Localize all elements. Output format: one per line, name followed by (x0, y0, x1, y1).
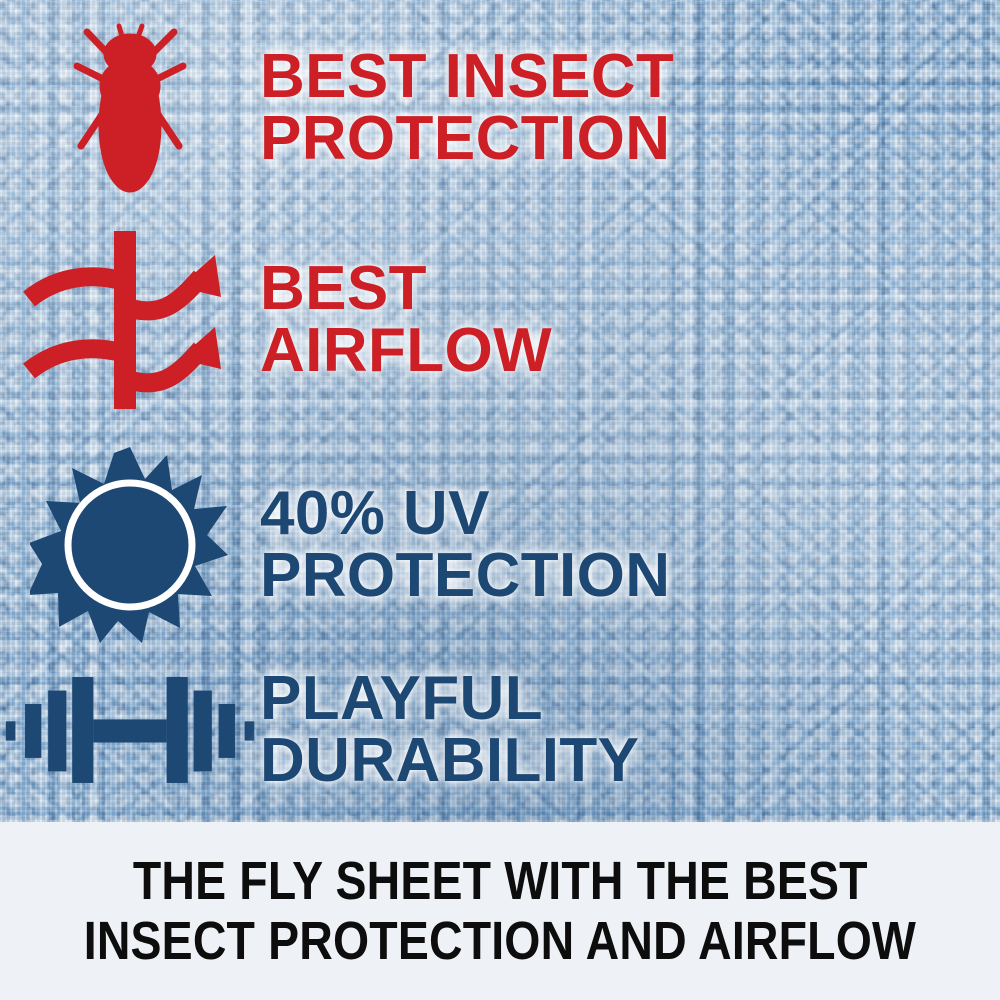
feature-label-line1: BEST (260, 258, 1000, 320)
dumbbell-icon (0, 665, 260, 795)
airflow-arrows-icon (15, 225, 245, 415)
feature-text-cell: BEST INSECT PROTECTION (260, 46, 1000, 170)
feature-icon-cell (0, 665, 260, 795)
feature-label-line2: AIRFLOW (260, 320, 1000, 382)
feature-text-cell: 40% UV PROTECTION (260, 483, 1000, 607)
feature-row-uv-protection: 40% UV PROTECTION (0, 440, 1000, 650)
feature-row-playful-durability: PLAYFUL DURABILITY (0, 655, 1000, 805)
feature-row-insect-protection: BEST INSECT PROTECTION (0, 18, 1000, 198)
feature-label-line2: DURABILITY (260, 730, 1000, 792)
fly-icon (55, 18, 205, 198)
fabric-barrier-bar (114, 231, 136, 409)
feature-row-best-airflow: BEST AIRFLOW (0, 225, 1000, 415)
bottom-caption-bar: THE FLY SHEET WITH THE BEST INSECT PROTE… (0, 822, 1000, 1000)
feature-icon-cell (0, 445, 260, 645)
feature-icon-cell (0, 225, 260, 415)
sun-uv-icon (30, 445, 230, 645)
feature-text-cell: BEST AIRFLOW (260, 258, 1000, 382)
caption-line2: INSECT PROTECTION AND AIRFLOW (84, 911, 916, 971)
feature-label-line1: 40% UV (260, 483, 1000, 545)
feature-label-line1: BEST INSECT (260, 46, 1000, 108)
feature-label-line2: PROTECTION (260, 545, 1000, 607)
feature-text-cell: PLAYFUL DURABILITY (260, 668, 1000, 792)
feature-icon-cell (0, 18, 260, 198)
feature-label-line2: PROTECTION (260, 108, 1000, 170)
caption-line1: THE FLY SHEET WITH THE BEST (133, 851, 868, 911)
feature-label-line1: PLAYFUL (260, 668, 1000, 730)
infographic-page: BEST INSECT PROTECTION (0, 0, 1000, 1000)
